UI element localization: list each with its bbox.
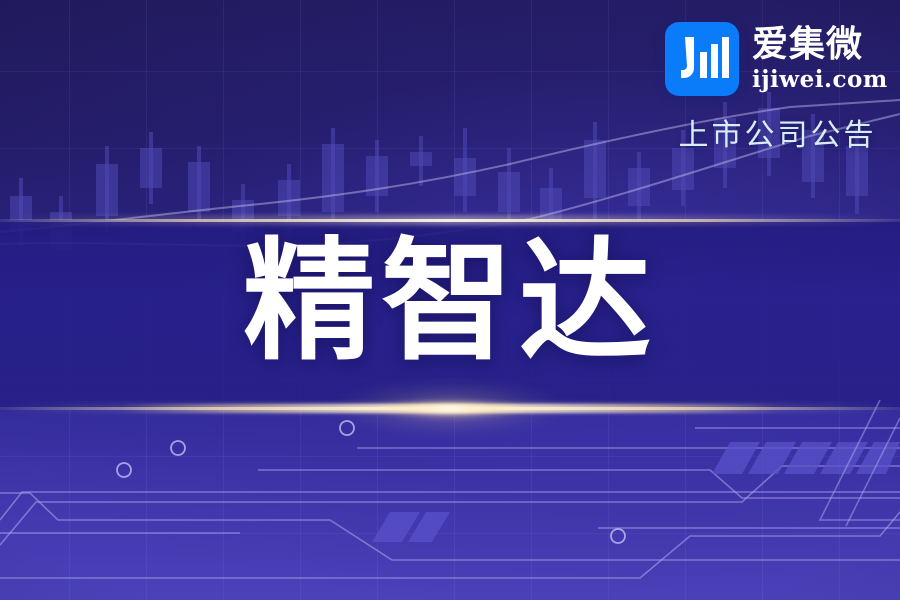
brand-name-cn: 爱集微 — [752, 27, 888, 63]
brand-row: 爱集微 ijiwei.com — [665, 22, 890, 96]
brand-subtitle: 上市公司公告 — [665, 110, 890, 154]
announcement-banner: 精智达 — [0, 0, 900, 600]
brand-words: 爱集微 ijiwei.com — [752, 27, 888, 91]
bar-chart-j-logo-icon — [665, 22, 739, 96]
brand-domain: ijiwei.com — [752, 68, 888, 91]
brand-block: 爱集微 ijiwei.com 上市公司公告 — [665, 22, 890, 154]
